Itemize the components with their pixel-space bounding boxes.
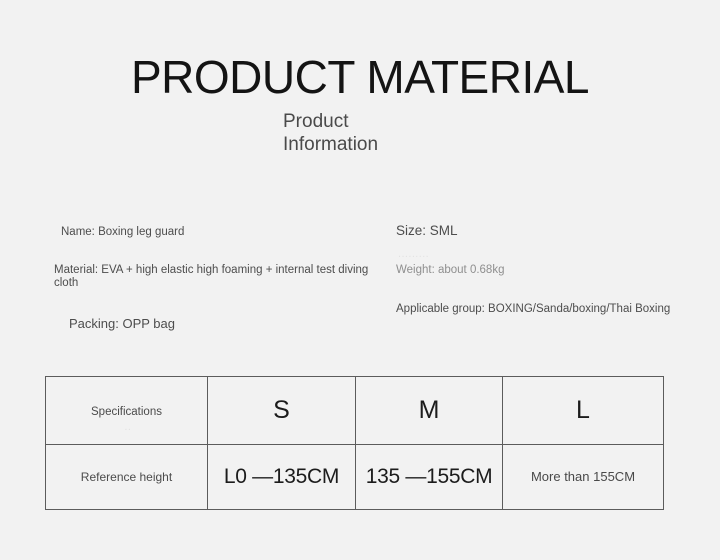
- page-subtitle: Product Information: [283, 110, 378, 156]
- spec-applicable-group: Applicable group: BOXING/Sanda/boxing/Th…: [396, 303, 686, 316]
- table-header-size-m: M: [356, 377, 503, 445]
- spec-column-left: Name: Boxing leg guard Material: EVA + h…: [54, 226, 384, 330]
- table-cell-height-m: 135 —155CM: [356, 445, 503, 510]
- spec-weight: Weight: about 0.68kg: [396, 264, 686, 277]
- table-cell-height-s: L0 —135CM: [208, 445, 356, 510]
- table-header-size-l: L: [503, 377, 664, 445]
- size-chart-table: Specifications .. S M L Reference height: [45, 376, 664, 510]
- reference-height-label: Reference height: [81, 470, 172, 484]
- page-subtitle-line-1: Product: [283, 110, 378, 133]
- ghost-artifact-specifications: ..: [124, 421, 131, 433]
- spec-packing: Packing: OPP bag: [69, 317, 384, 330]
- table-row: Reference height L0 —135CM 135 —155CM Mo…: [46, 445, 664, 510]
- spec-name: Name: Boxing leg guard: [61, 226, 384, 239]
- spec-size: Size: SML: [396, 224, 686, 237]
- table-row-label-reference-height: Reference height: [46, 445, 208, 510]
- table-cell-height-l: More than 155CM: [503, 445, 664, 510]
- spec-column-right: Size: SML ......... Weight: about 0.68kg…: [396, 224, 686, 316]
- ghost-artifact-text: .........: [398, 248, 429, 260]
- spec-material: Material: EVA + high elastic high foamin…: [54, 264, 384, 290]
- page-title: PRODUCT MATERIAL: [0, 52, 720, 102]
- page-subtitle-line-2: Information: [283, 133, 378, 156]
- table-header-specifications-label: Specifications: [91, 406, 162, 418]
- table-row: Specifications .. S M L: [46, 377, 664, 445]
- table-header-size-s: S: [208, 377, 356, 445]
- product-material-page: PRODUCT MATERIAL Product Information Nam…: [0, 0, 720, 560]
- table-header-specifications: Specifications ..: [46, 377, 208, 445]
